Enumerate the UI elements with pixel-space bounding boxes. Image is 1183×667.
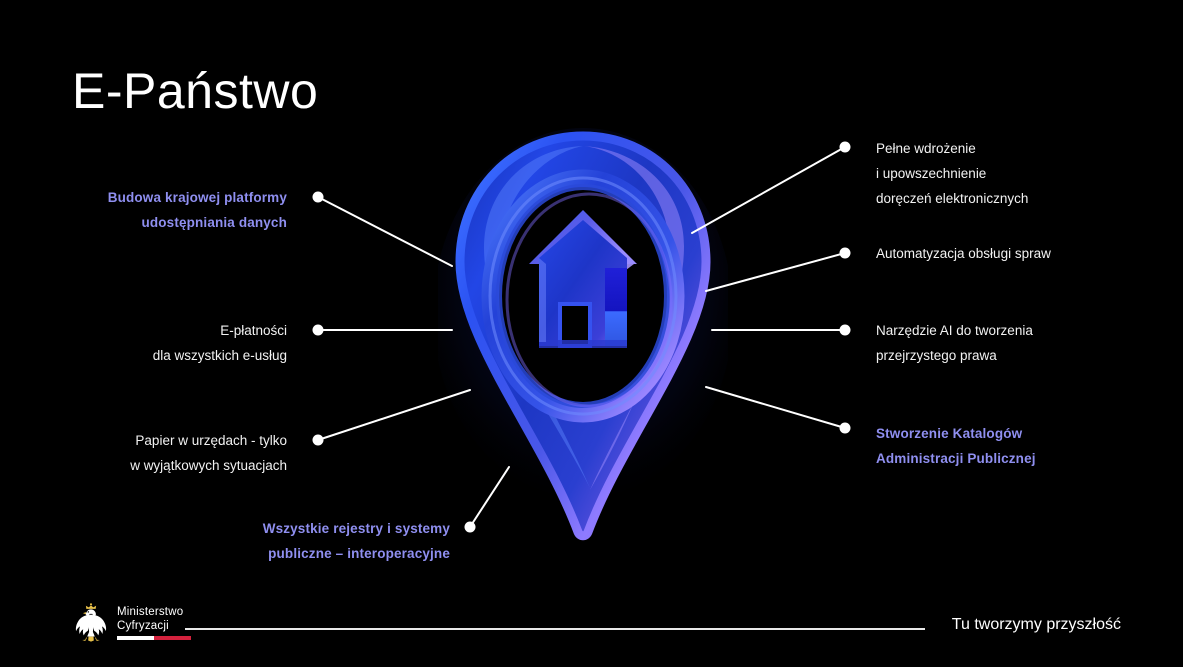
connector-dot-left-2 bbox=[313, 325, 324, 336]
callout-line: udostępniania danych bbox=[108, 210, 287, 235]
callout-line: Wszystkie rejestry i systemy bbox=[263, 516, 450, 541]
connector-dot-right-3 bbox=[840, 325, 851, 336]
callout-right-automatyzacja-obslugi: Automatyzacja obsługi spraw bbox=[876, 241, 1051, 266]
callout-right-doreczenia-elektroniczne: Pełne wdrożenie i upowszechnienie doręcz… bbox=[876, 136, 1028, 211]
ministry-logo: Ministerstwo Cyfryzacji bbox=[72, 602, 191, 644]
polish-eagle-icon bbox=[72, 602, 110, 644]
callout-line: przejrzystego prawa bbox=[876, 343, 1033, 368]
flag-bar-white bbox=[117, 636, 154, 640]
connector-dot-left-1 bbox=[313, 192, 324, 203]
connector-dot-left-4 bbox=[465, 522, 476, 533]
ministry-name-line-1: Ministerstwo bbox=[117, 606, 191, 620]
callout-line: Automatyzacja obsługi spraw bbox=[876, 241, 1051, 266]
slide-root: E-Państwo bbox=[0, 0, 1183, 667]
ministry-name-line-2: Cyfryzacji bbox=[117, 620, 191, 634]
connector-dot-right-2 bbox=[840, 248, 851, 259]
connector-line-left-1 bbox=[318, 197, 452, 266]
flag-bar-red bbox=[154, 636, 191, 640]
callout-line: Narzędzie AI do tworzenia bbox=[876, 318, 1033, 343]
map-pin-svg bbox=[438, 128, 728, 548]
map-pin-graphic bbox=[438, 128, 728, 548]
callout-line: i upowszechnienie bbox=[876, 161, 1028, 186]
callout-left-budowa-platformy: Budowa krajowej platformy udostępniania … bbox=[108, 185, 287, 235]
callout-right-katalogi-administracji: Stworzenie Katalogów Administracji Publi… bbox=[876, 421, 1036, 471]
footer-tagline: Tu tworzymy przyszłość bbox=[952, 616, 1121, 634]
callout-line: doręczeń elektronicznych bbox=[876, 186, 1028, 211]
callout-left-rejestry-interoperacyjne: Wszystkie rejestry i systemy publiczne –… bbox=[263, 516, 450, 566]
callout-line: Papier w urzędach - tylko bbox=[130, 428, 287, 453]
ministry-logo-text: Ministerstwo Cyfryzacji bbox=[117, 606, 191, 640]
footer-divider bbox=[185, 628, 925, 630]
page-title: E-Państwo bbox=[72, 64, 318, 119]
callout-left-e-platnosci: E-płatności dla wszystkich e-usług bbox=[153, 318, 287, 368]
callout-line: Stworzenie Katalogów bbox=[876, 421, 1036, 446]
callout-line: w wyjątkowych sytuacjach bbox=[130, 453, 287, 478]
callout-line: Administracji Publicznej bbox=[876, 446, 1036, 471]
callout-right-narzedzie-ai: Narzędzie AI do tworzenia przejrzystego … bbox=[876, 318, 1033, 368]
callout-line: Pełne wdrożenie bbox=[876, 136, 1028, 161]
connector-dot-right-1 bbox=[840, 142, 851, 153]
callout-line: Budowa krajowej platformy bbox=[108, 185, 287, 210]
callout-line: publiczne – interoperacyjne bbox=[263, 541, 450, 566]
callout-line: dla wszystkich e-usług bbox=[153, 343, 287, 368]
connector-dot-right-4 bbox=[840, 423, 851, 434]
callout-left-papier-w-urzedach: Papier w urzędach - tylko w wyjątkowych … bbox=[130, 428, 287, 478]
connector-dot-left-3 bbox=[313, 435, 324, 446]
callout-line: E-płatności bbox=[153, 318, 287, 343]
polish-flag-bar bbox=[117, 636, 191, 640]
